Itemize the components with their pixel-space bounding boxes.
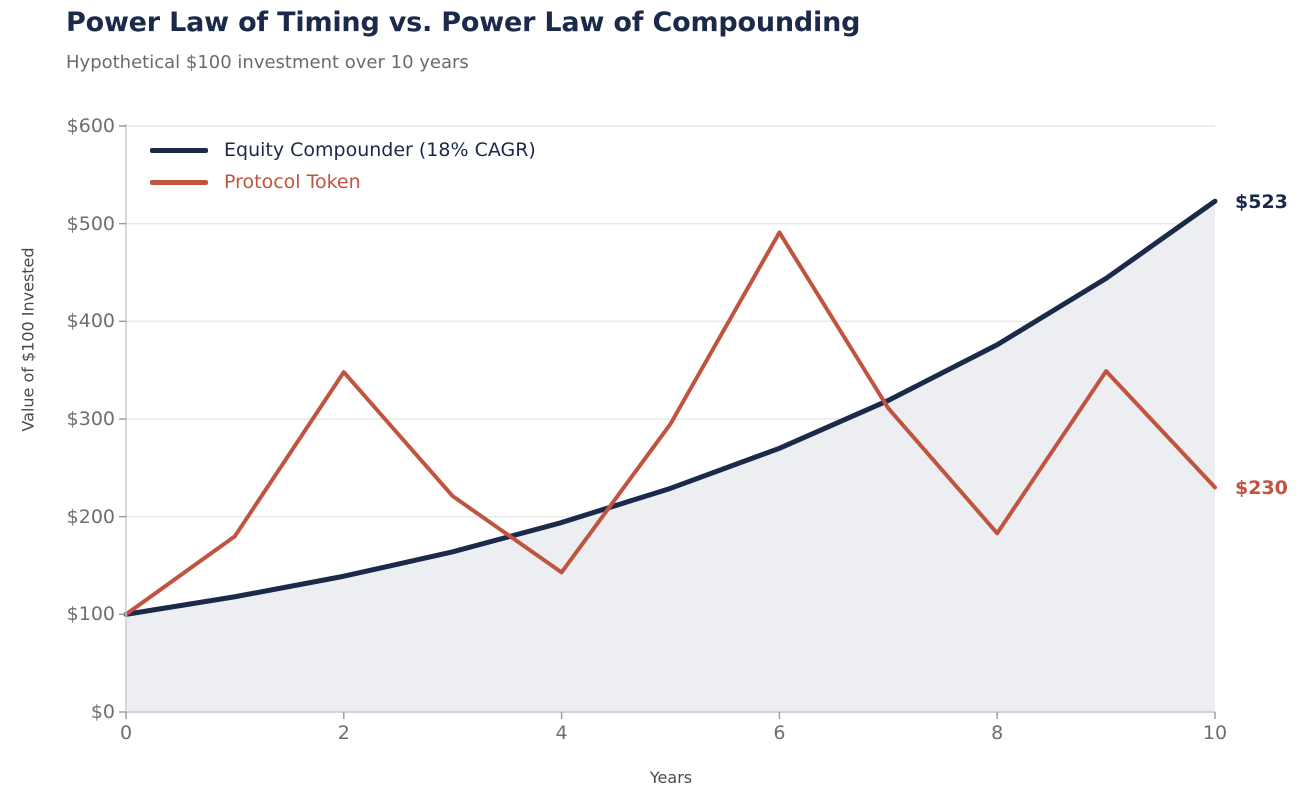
x-tick-label: 8 <box>967 722 1027 744</box>
legend-swatch-equity-compounder <box>150 148 208 153</box>
legend-swatch-protocol-token <box>150 180 208 185</box>
y-tick-label: $0 <box>15 701 115 723</box>
x-tick-label: 6 <box>749 722 809 744</box>
legend-label-protocol-token: Protocol Token <box>224 171 361 193</box>
x-axis-label: Years <box>0 768 1310 787</box>
x-tick-label: 0 <box>96 722 156 744</box>
y-axis-label: Value of $100 Invested <box>19 230 38 450</box>
legend-item-equity-compounder[interactable]: Equity Compounder (18% CAGR) <box>150 134 536 166</box>
y-tick-label: $200 <box>15 506 115 528</box>
x-tick-label: 2 <box>314 722 374 744</box>
legend-item-protocol-token[interactable]: Protocol Token <box>150 166 536 198</box>
chart-plot-area <box>0 0 1310 809</box>
token-end-value-label: $230 <box>1235 477 1288 499</box>
chart-page: Power Law of Timing vs. Power Law of Com… <box>0 0 1310 809</box>
x-tick-label: 10 <box>1185 722 1245 744</box>
y-tick-label: $100 <box>15 603 115 625</box>
equity-end-value-label: $523 <box>1235 191 1288 213</box>
y-tick-label: $600 <box>15 115 115 137</box>
legend-label-equity-compounder: Equity Compounder (18% CAGR) <box>224 139 536 161</box>
chart-legend: Equity Compounder (18% CAGR) Protocol To… <box>150 134 536 198</box>
x-tick-label: 4 <box>532 722 592 744</box>
